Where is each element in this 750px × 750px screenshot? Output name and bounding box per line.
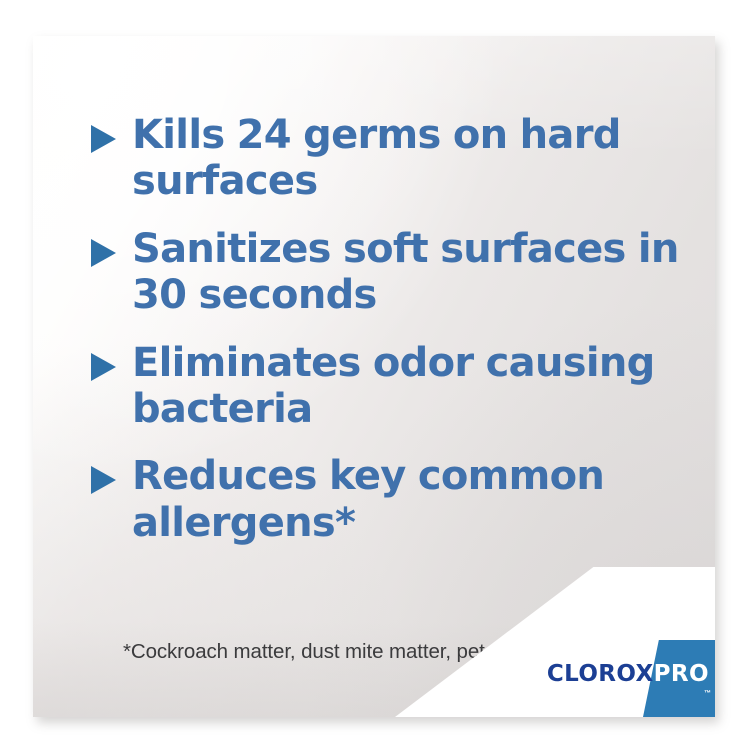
benefit-list: Kills 24 germs on hard surfaces Sanitize… — [90, 112, 693, 546]
right-triangle-bullet-icon — [90, 238, 117, 268]
panel-content: Kills 24 germs on hard surfaces Sanitize… — [33, 36, 715, 717]
screenshot-stage: Kills 24 germs on hard surfaces Sanitize… — [0, 0, 750, 750]
right-triangle-bullet-icon — [90, 352, 117, 382]
logo-wordmark-pro: PRO — [654, 663, 709, 686]
benefit-text: Sanitizes soft surfaces in 30 seconds — [132, 226, 693, 319]
product-feature-panel: Kills 24 germs on hard surfaces Sanitize… — [33, 36, 715, 717]
logo-wordmark: CLOROX PRO — [547, 663, 709, 686]
benefit-item-4: Reduces key common allergens* — [90, 453, 693, 546]
trademark-symbol: ™ — [704, 690, 711, 697]
logo-blue-block — [643, 640, 715, 717]
benefit-text: Eliminates odor causing bacteria — [132, 340, 693, 433]
benefit-text: Reduces key common allergens* — [132, 453, 693, 546]
benefit-item-2: Sanitizes soft surfaces in 30 seconds — [90, 226, 693, 319]
right-triangle-bullet-icon — [90, 465, 117, 495]
right-triangle-bullet-icon — [90, 124, 117, 154]
allergen-footnote: *Cockroach matter, dust mite matter, pet… — [123, 640, 554, 664]
benefit-item-3: Eliminates odor causing bacteria — [90, 340, 693, 433]
logo-wordmark-clorox: CLOROX — [547, 663, 654, 686]
benefit-text: Kills 24 germs on hard surfaces — [132, 112, 693, 205]
benefit-item-1: Kills 24 germs on hard surfaces — [90, 112, 693, 205]
